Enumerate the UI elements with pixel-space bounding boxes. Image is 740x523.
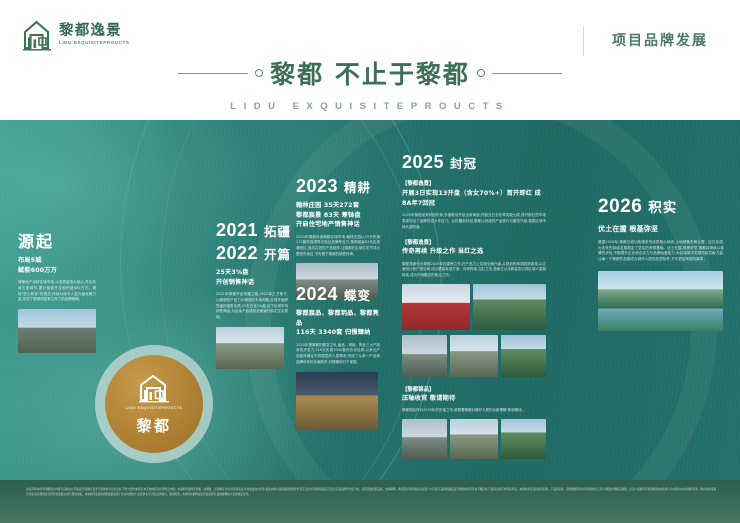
year-2023: 2023 [296, 176, 338, 197]
timeline-item-2025: 2025 封冠 【黎都逸景】 开展3日实现13开盘（含女70%+）首开即红 成8… [402, 152, 546, 459]
y2023-body: 2023年黎都持续精耕区域市场,翰林庄园以35天热销272套的成绩再次验证品牌号… [296, 235, 380, 258]
page-title: 黎都 不止于黎都 [270, 55, 470, 91]
year-2025-label: 封冠 [450, 153, 477, 172]
brand-name-cn: 黎都逸景 [59, 24, 130, 39]
year-2024: 2024 [296, 284, 338, 305]
origin-body: 黎都地产深耕区域市场,以品质营造为核心,先后布局五座城市,累计赋能开发面积超60… [18, 280, 96, 303]
y2025-photo-7 [450, 419, 498, 459]
y2025-photo-2 [473, 284, 546, 330]
timeline-item-2023: 2023 精耕 翰林庄园 35天272套 黎都宸景 83天 筹钵盘 开启住宅地产… [296, 176, 380, 299]
timeline-item-2026: 2026 积实 优土在握 根基弥坚 展望2026年,黎都已成功拓储多宗优质核心地… [598, 196, 724, 331]
y2024-photo [296, 372, 378, 430]
title-block: 黎都 不止于黎都 LIDU EXQUISITEPROUCTS [0, 55, 740, 112]
poster-page: 黎都逸景 LIDU EXQUISITEPROUCTS 项目品牌发展 黎都 不止于… [0, 0, 740, 523]
page-footer: 免责声明:本宣传资料部分内容引自相关公开渠道,所涉图片及文字仅作参考示意之用,不… [0, 480, 740, 523]
emblem-en: LIDU EXQUISITEPROUCTS [126, 406, 183, 410]
y2025-photo-3 [402, 335, 447, 377]
title-rule-left [178, 73, 248, 74]
year-2025: 2025 [402, 152, 444, 173]
year-2023-label: 精耕 [344, 177, 371, 196]
house-logo-icon [22, 19, 52, 51]
timeline-canvas: 源起 布局5城 赋能600万方 黎都地产深耕区域市场,以品质营造为核心,先后布局… [0, 120, 740, 480]
brand-name-en: LIDU EXQUISITEPROUCTS [59, 41, 130, 46]
y2024-body: 2024年是黎都的蝶变之年,宸品、玥品、隽品三大产品系同步发力,116天实现33… [296, 343, 380, 366]
emblem-house-icon [137, 373, 171, 403]
timeline-item-origin: 源起 布局5城 赋能600万方 黎都地产深耕区域市场,以品质营造为核心,先后布局… [18, 228, 96, 353]
y2025-section-1-sub: 传奇再续 升级之作 当红之选 [402, 247, 546, 257]
y2021-highlight: 25天3%盘 开创销售神话 [216, 268, 288, 287]
y2025-section-1-tag: 【黎都逸景】 [402, 179, 546, 187]
y2025-photo-4 [450, 335, 498, 377]
emblem-cn: 黎都 [136, 415, 171, 436]
y2025-photo-8 [501, 419, 546, 459]
y2025-photo-6 [402, 419, 447, 459]
y2025-body: 2025年黎都迎来封冠时刻,多盘联动开启全新局面,开盘当日去化率突破七成,首开即… [402, 213, 546, 230]
y2021-body: 2021年黎都开启拓疆之路,2022年正式落子,以稳健的产品力与精准的市场判断,… [216, 292, 288, 320]
header-section-label: 项目品牌发展 [612, 30, 708, 50]
y2025-section-2-body: 黎都锦品作为2025年的压轴之作,承载着黎都对美好人居的全新理解,敬请期待。 [402, 408, 546, 414]
year-2022-label: 开篇 [264, 244, 291, 263]
title-dot-left [255, 69, 263, 77]
disclaimer-text: 免责声明:本宣传资料部分内容引自相关公开渠道,所涉图片及文字仅作参考示意之用,不… [26, 487, 716, 498]
y2025-section-1-body: 黎都逸景作为黎都2025年的重磅之作,在产品力上实现全面升级,从规划布局到园林景… [402, 262, 546, 279]
y2025-section-2-tag: 【黎都锦品】 [402, 385, 546, 393]
brand-logo: 黎都逸景 LIDU EXQUISITEPROUCTS [22, 19, 130, 51]
y2026-photo [598, 271, 723, 331]
title-dot-right [477, 69, 485, 77]
page-subtitle: LIDU EXQUISITEPROUCTS [0, 101, 740, 112]
header-divider [583, 26, 584, 56]
origin-highlight: 布局5城 赋能600万方 [18, 256, 96, 275]
y2026-highlight: 优土在握 根基弥坚 [598, 224, 724, 235]
origin-title: 源起 [18, 228, 54, 252]
title-rule-right [492, 73, 562, 74]
y2025-section-2-sub: 压轴收官 敬请期待 [402, 394, 546, 404]
timeline-item-2024: 2024 蝶变 黎都宸品、黎都玥品、黎都隽品 116天 3340套 归憬臻纳 2… [296, 284, 380, 430]
y2025-section-1-tag-b: 【黎都逸景】 [402, 238, 546, 246]
year-2021: 2021 [216, 220, 258, 241]
y2021-photo [216, 327, 284, 369]
timeline-item-2021: 2021 拓疆 2022 开篇 25天3%盘 开创销售神话 2021年黎都开启拓… [216, 220, 288, 369]
brand-emblem: LIDU EXQUISITEPROUCTS 黎都 [95, 345, 213, 463]
origin-photo [18, 309, 96, 353]
y2024-highlight: 黎都宸品、黎都玥品、黎都隽品 116天 3340套 归憬臻纳 [296, 309, 380, 338]
year-2024-label: 蝶变 [344, 285, 371, 304]
year-2026-label: 积实 [648, 196, 677, 216]
year-2021-label: 拓疆 [264, 221, 291, 240]
year-2022: 2022 [216, 243, 258, 264]
y2025-highlight: 开展3日实现13开盘（含女70%+）首开即红 成8A年7回冠 [402, 189, 546, 208]
y2025-photo-5 [501, 335, 546, 377]
y2026-body: 展望2026年,黎都已成功拓储多宗优质核心地块,土地储备布局合理、区位优越,为未… [598, 240, 724, 263]
year-2026: 2026 [598, 196, 642, 218]
page-header: 黎都逸景 LIDU EXQUISITEPROUCTS 项目品牌发展 黎都 不止于… [0, 0, 740, 120]
y2023-highlight: 翰林庄园 35天272套 黎都宸景 83天 筹钵盘 开启住宅地产销售神话 [296, 201, 380, 230]
y2025-photo-1 [402, 284, 470, 330]
